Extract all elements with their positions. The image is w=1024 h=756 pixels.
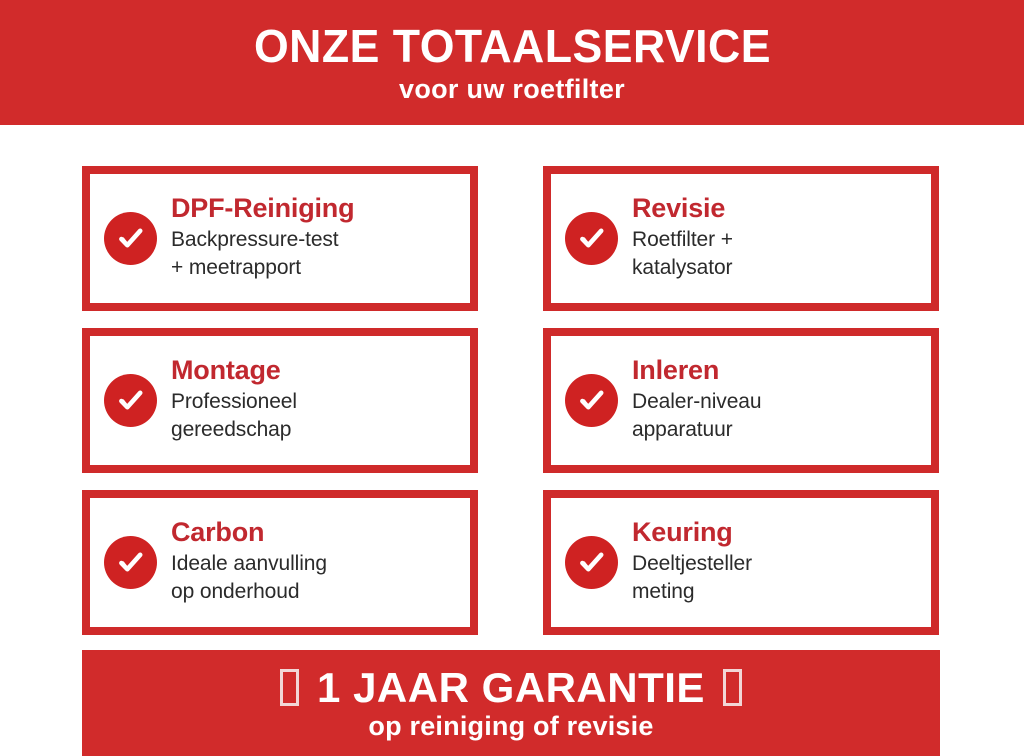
service-card-line-2: katalysator xyxy=(632,254,921,282)
service-card-text: Montage Professioneel gereedschap xyxy=(171,355,460,446)
service-card-line-1: Backpressure-test xyxy=(171,226,460,254)
guarantee-title: 1 JAAR GARANTIE xyxy=(317,667,705,709)
service-card-text: DPF-Reiniging Backpressure-test + meetra… xyxy=(171,193,460,284)
service-card-title: DPF-Reiniging xyxy=(171,193,460,223)
guarantee-headline-row: 1 JAAR GARANTIE xyxy=(280,667,742,709)
service-card[interactable]: Carbon Ideale aanvulling op onderhoud xyxy=(82,490,478,635)
check-circle-icon xyxy=(565,212,618,265)
service-card-line-1: Professioneel xyxy=(171,388,460,416)
service-card-line-2: apparatuur xyxy=(632,416,921,444)
page-title: ONZE TOTAALSERVICE xyxy=(254,23,771,69)
page-subtitle: voor uw roetfilter xyxy=(399,76,625,103)
service-card-line-1: Ideale aanvulling xyxy=(171,550,460,578)
service-card-line-1: Dealer-niveau xyxy=(632,388,921,416)
service-card[interactable]: DPF-Reiniging Backpressure-test + meetra… xyxy=(82,166,478,311)
check-circle-icon xyxy=(104,374,157,427)
service-card-line-2: gereedschap xyxy=(171,416,460,444)
service-card[interactable]: Revisie Roetfilter + katalysator xyxy=(543,166,939,311)
check-circle-icon xyxy=(565,536,618,589)
service-card-text: Inleren Dealer-niveau apparatuur xyxy=(632,355,921,446)
service-card-line-2: meting xyxy=(632,578,921,606)
service-card-line-1: Deeltjesteller xyxy=(632,550,921,578)
service-card-line-1: Roetfilter + xyxy=(632,226,921,254)
guarantee-subtitle: op reiniging of revisie xyxy=(368,713,653,740)
check-circle-icon xyxy=(565,374,618,427)
check-circle-icon xyxy=(104,536,157,589)
service-cards-grid: DPF-Reiniging Backpressure-test + meetra… xyxy=(82,166,940,635)
service-card[interactable]: Keuring Deeltjesteller meting xyxy=(543,490,939,635)
guarantee-banner: 1 JAAR GARANTIE op reiniging of revisie xyxy=(82,650,940,756)
service-card-title: Inleren xyxy=(632,355,921,385)
service-card-text: Revisie Roetfilter + katalysator xyxy=(632,193,921,284)
service-card-text: Keuring Deeltjesteller meting xyxy=(632,517,921,608)
service-card-title: Carbon xyxy=(171,517,460,547)
service-card[interactable]: Inleren Dealer-niveau apparatuur xyxy=(543,328,939,473)
header-banner: ONZE TOTAALSERVICE voor uw roetfilter xyxy=(0,0,1024,125)
service-card-title: Montage xyxy=(171,355,460,385)
check-circle-icon xyxy=(104,212,157,265)
service-card-line-2: op onderhoud xyxy=(171,578,460,606)
service-card-title: Revisie xyxy=(632,193,921,223)
missing-glyph-box-icon-left xyxy=(280,669,299,706)
service-card-line-2: + meetrapport xyxy=(171,254,460,282)
service-card-text: Carbon Ideale aanvulling op onderhoud xyxy=(171,517,460,608)
missing-glyph-box-icon-right xyxy=(723,669,742,706)
service-card[interactable]: Montage Professioneel gereedschap xyxy=(82,328,478,473)
service-card-title: Keuring xyxy=(632,517,921,547)
